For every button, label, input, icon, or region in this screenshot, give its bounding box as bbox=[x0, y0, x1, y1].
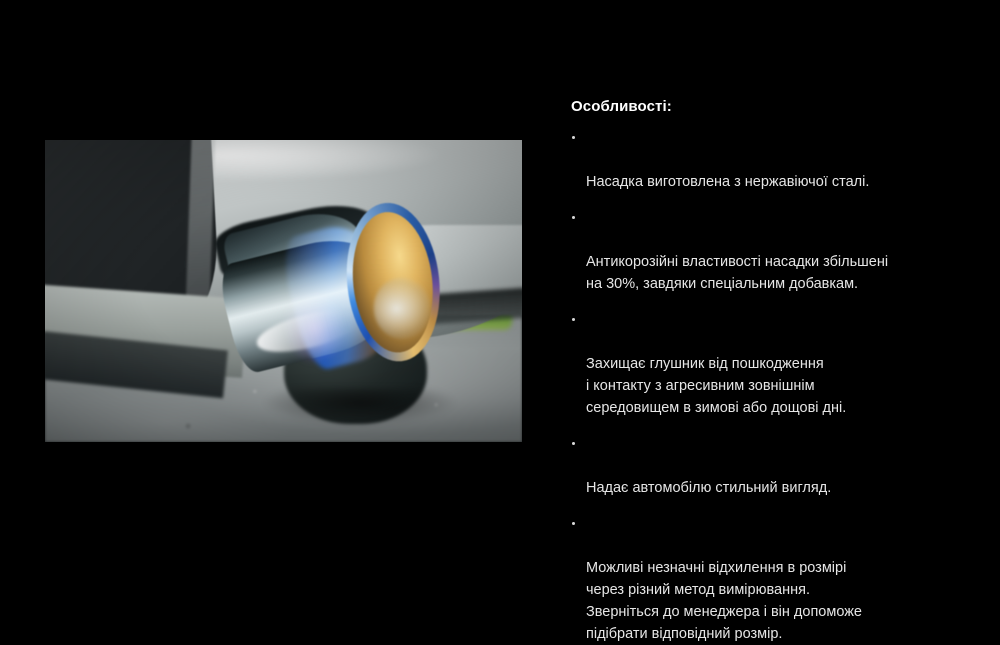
feature-item: Насадка виготовлена з нержавіючої сталі. bbox=[571, 127, 981, 193]
bullet-dot-icon bbox=[572, 216, 575, 219]
car-exhaust-tip-photo bbox=[45, 140, 522, 442]
feature-text: Антикорозійні властивості насадки збільш… bbox=[586, 254, 888, 292]
feature-text: Надає автомобілю стильний вигляд. bbox=[586, 480, 831, 496]
product-photo-frame bbox=[45, 140, 522, 442]
bullet-dot-icon bbox=[572, 136, 575, 139]
feature-text: Можливі незначні відхилення в розмірі че… bbox=[586, 560, 862, 642]
feature-item: Можливі незначні відхилення в розмірі че… bbox=[571, 513, 981, 645]
bullet-dot-icon bbox=[572, 522, 575, 525]
feature-item: Надає автомобілю стильний вигляд. bbox=[571, 433, 981, 499]
feature-text: Захищає глушник від пошкодження і контак… bbox=[586, 356, 846, 416]
features-section: Особливості: Насадка виготовлена з нержа… bbox=[571, 98, 981, 645]
bullet-dot-icon bbox=[572, 318, 575, 321]
feature-item: Антикорозійні властивості насадки збільш… bbox=[571, 207, 981, 295]
feature-item: Захищає глушник від пошкодження і контак… bbox=[571, 309, 981, 419]
features-heading: Особливості: bbox=[571, 98, 981, 116]
bullet-dot-icon bbox=[572, 442, 575, 445]
product-feature-slide: Особливості: Насадка виготовлена з нержа… bbox=[0, 0, 1000, 572]
features-list: Насадка виготовлена з нержавіючої сталі.… bbox=[571, 127, 981, 645]
feature-text: Насадка виготовлена з нержавіючої сталі. bbox=[586, 174, 869, 190]
